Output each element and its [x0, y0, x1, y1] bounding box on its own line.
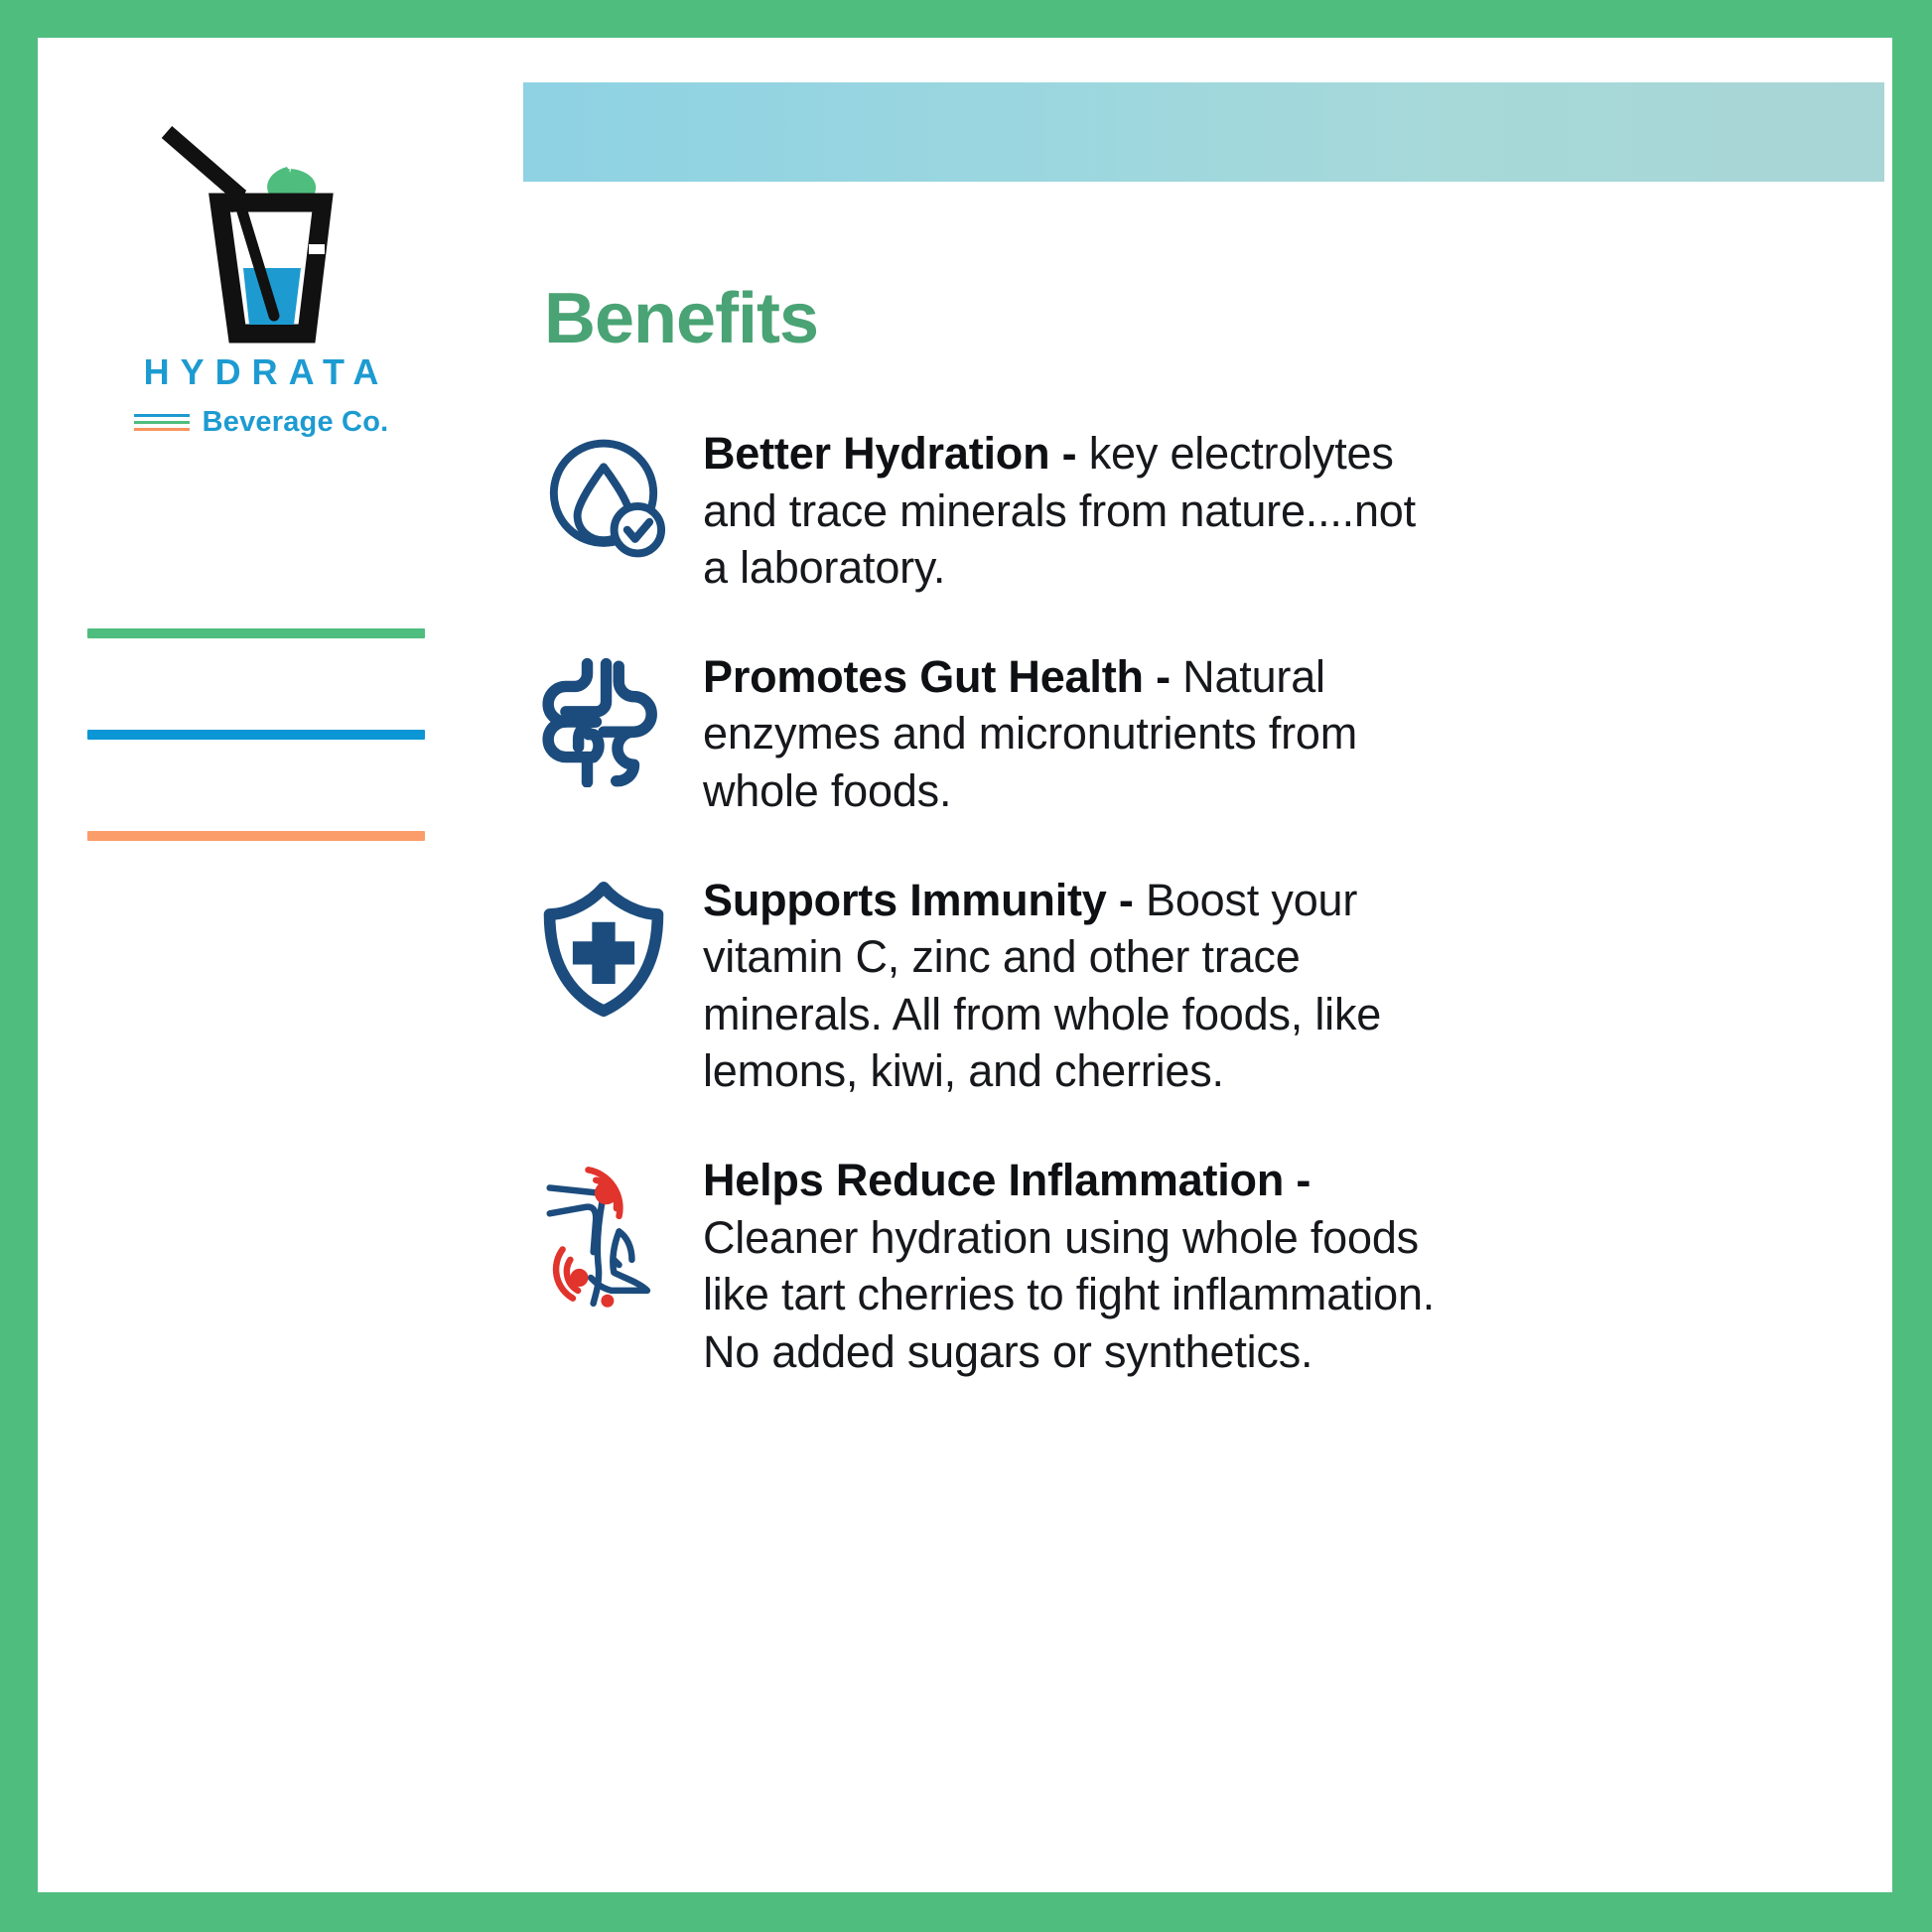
- benefit-icon-slot: [504, 872, 703, 1019]
- benefit-text: Supports Immunity - Boost your vitamin C…: [703, 872, 1438, 1100]
- benefit-title: Promotes Gut Health: [703, 651, 1144, 702]
- benefit-body: Cleaner hydration using whole foods like…: [703, 1212, 1435, 1377]
- benefit-item: Better Hydration - key electrolytes and …: [504, 425, 1894, 597]
- rule-blue: [87, 730, 425, 740]
- benefit-icon-slot: [504, 648, 703, 787]
- brand-accent-lines: [134, 414, 190, 431]
- shield-cross-icon: [539, 880, 668, 1019]
- water-drop-check-icon: [538, 433, 669, 564]
- joint-pain-icon: [538, 1160, 669, 1309]
- brand-tagline: Beverage Co.: [203, 406, 389, 439]
- brand-tagline-row: Beverage Co.: [97, 406, 425, 439]
- benefit-text: Helps Reduce Inflammation - Cleaner hydr…: [703, 1152, 1438, 1380]
- rule-orange: [87, 831, 425, 841]
- page-title: Benefits: [544, 278, 818, 359]
- poster-page: HYDRATA Beverage Co. Benefits: [0, 0, 1932, 1932]
- benefit-item: Supports Immunity - Boost your vitamin C…: [504, 872, 1894, 1100]
- benefit-title: Better Hydration: [703, 428, 1049, 479]
- rule-green: [87, 628, 425, 638]
- benefits-list: Better Hydration - key electrolytes and …: [504, 425, 1894, 1432]
- poster-card: HYDRATA Beverage Co. Benefits: [38, 38, 1892, 1892]
- brand-sidebar: HYDRATA Beverage Co.: [38, 38, 504, 1892]
- accent-rules: [87, 628, 465, 841]
- benefit-separator: -: [1107, 875, 1146, 925]
- benefit-title: Helps Reduce Inflammation: [703, 1155, 1284, 1205]
- intestine-icon: [540, 656, 667, 787]
- benefit-separator: -: [1144, 651, 1182, 702]
- drinking-glass-with-straw-and-leaf-icon: [112, 107, 410, 355]
- brand-logo: HYDRATA Beverage Co.: [97, 107, 425, 439]
- benefit-icon-slot: [504, 425, 703, 564]
- benefit-item: Promotes Gut Health - Natural enzymes an…: [504, 648, 1894, 820]
- benefit-title: Supports Immunity: [703, 875, 1107, 925]
- benefits-panel: Benefits Better Hydration - key electrol…: [504, 38, 1892, 1892]
- benefit-item: Helps Reduce Inflammation - Cleaner hydr…: [504, 1152, 1894, 1380]
- benefit-text: Promotes Gut Health - Natural enzymes an…: [703, 648, 1438, 820]
- benefit-icon-slot: [504, 1152, 703, 1309]
- benefit-separator: -: [1284, 1155, 1311, 1205]
- brand-name: HYDRATA: [97, 351, 425, 393]
- benefit-separator: -: [1049, 428, 1088, 479]
- benefit-text: Better Hydration - key electrolytes and …: [703, 425, 1438, 597]
